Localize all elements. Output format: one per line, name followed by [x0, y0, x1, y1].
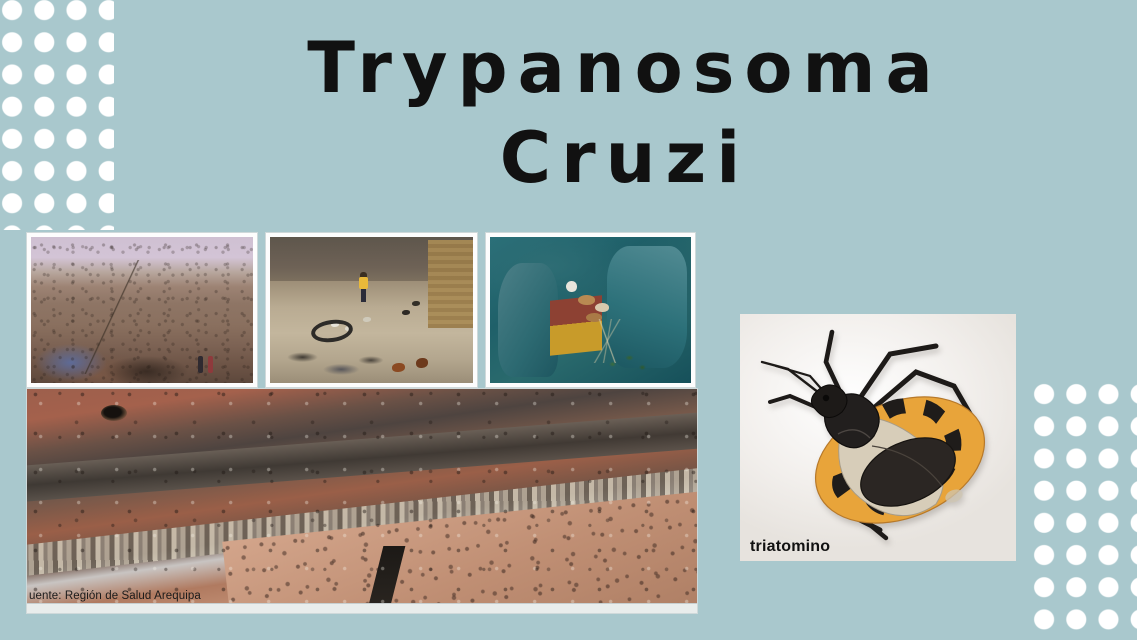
- photo-bottom-strip: [27, 603, 697, 613]
- yard-tire: [309, 317, 354, 345]
- hillside-image: [31, 237, 253, 383]
- triatomine-illustration: [740, 314, 1016, 561]
- photo-hillside-shantytown: [26, 232, 258, 388]
- photo-triatomine-bug: triatomino: [740, 314, 1016, 561]
- photo-row-top: [26, 232, 698, 388]
- photo-guinea-pig-shelter: [485, 232, 696, 388]
- page-title: Trypanosoma Cruzi: [255, 24, 995, 203]
- photo-rural-yard-animals: [265, 232, 478, 388]
- bug-eye: [823, 395, 829, 401]
- wall-image: uente: Región de Salud Arequipa: [27, 389, 697, 613]
- slide-root: Trypanosoma Cruzi: [0, 0, 1137, 640]
- cuy-grass: [603, 345, 651, 377]
- yard-adobe-hut: [428, 240, 473, 328]
- photo-cracked-adobe-wall: uente: Región de Salud Arequipa: [26, 388, 698, 614]
- wall-texture: [27, 389, 697, 613]
- hillside-figures: [196, 351, 222, 373]
- dot-pattern-top-left: [0, 0, 114, 230]
- yard-person: [359, 272, 368, 302]
- photo-source-caption: uente: Región de Salud Arequipa: [29, 590, 201, 602]
- bug-caption-label: triatomino: [750, 538, 830, 556]
- dot-pattern-bottom-right: [1028, 378, 1137, 640]
- yard-image: [270, 237, 473, 383]
- guinea-pig-image: [490, 237, 691, 383]
- yard-debris: [282, 342, 396, 380]
- photo-collage: uente: Región de Salud Arequipa: [26, 232, 698, 614]
